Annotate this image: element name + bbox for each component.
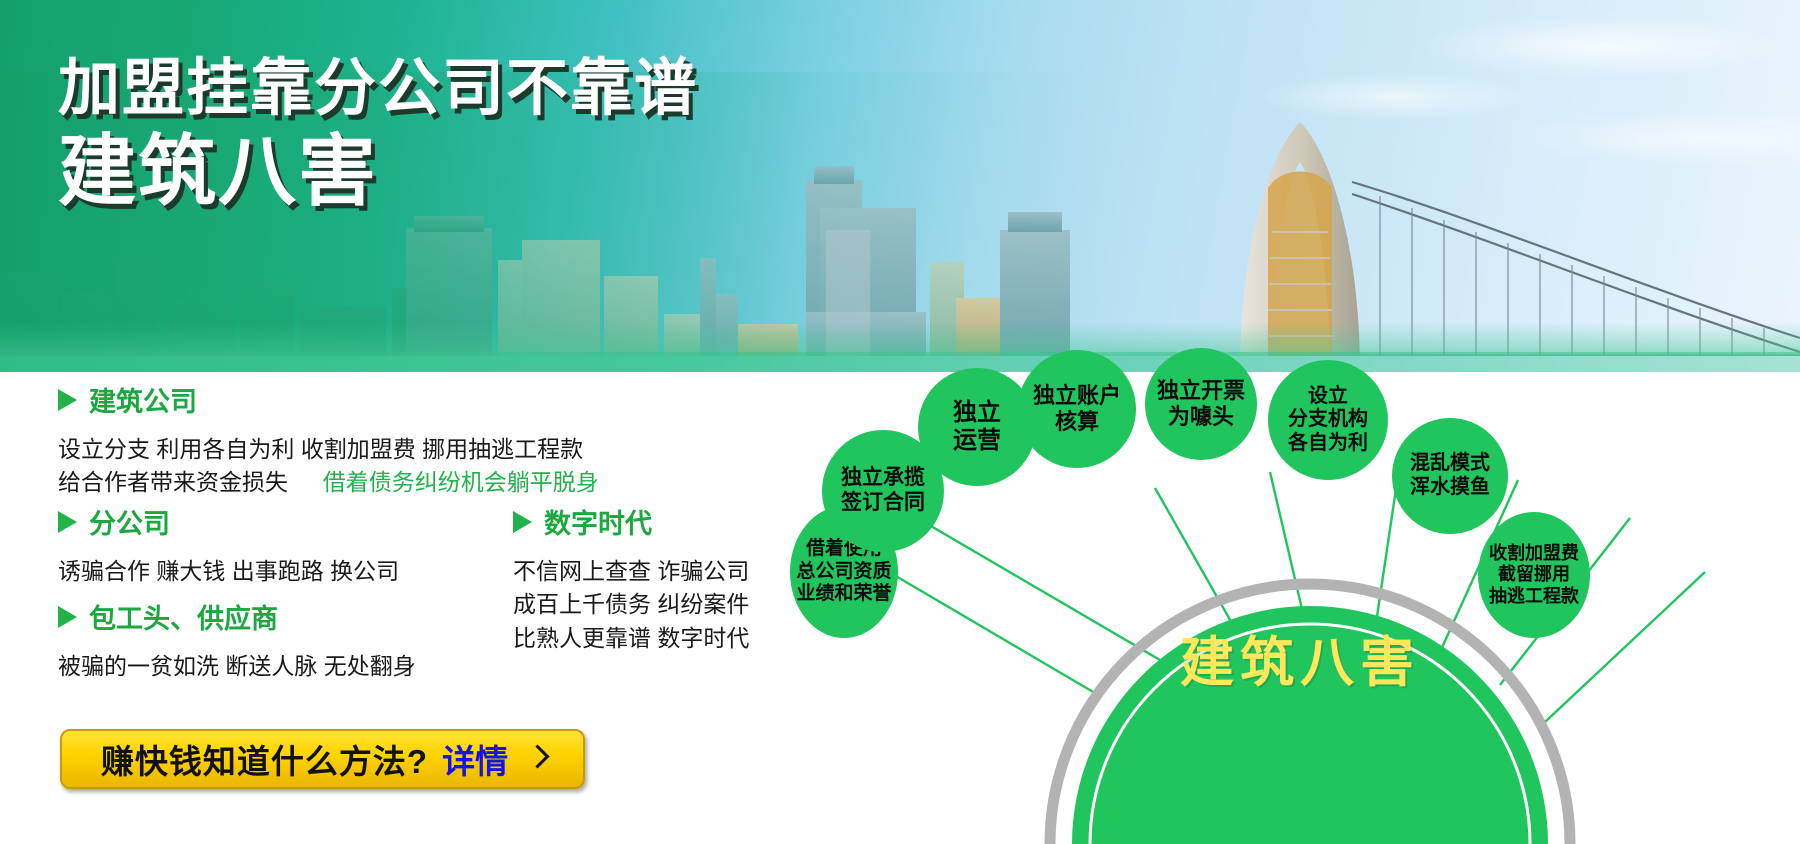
section-title: 数字时代 xyxy=(544,502,652,541)
section-body-line: 被骗的一贫如洗 断送人脉 无处翻身 xyxy=(58,650,416,683)
poster-root: 加盟挂靠分公司不靠谱 建筑八害 建筑公司 设立分支 利用各自为利 收割加盟费 挪… xyxy=(0,0,1800,844)
triangle-right-icon xyxy=(58,389,77,411)
section-title: 分公司 xyxy=(89,502,170,541)
triangle-right-icon xyxy=(58,606,77,628)
section-construction-company: 建筑公司 设立分支 利用各自为利 收割加盟费 挪用抽逃工程款 给合作者带来资金损… xyxy=(58,380,599,500)
section-body-line: 不信网上查查 诈骗公司 xyxy=(513,555,749,588)
hero-banner: 加盟挂靠分公司不靠谱 建筑八害 xyxy=(0,0,1800,372)
section-contractor-supplier: 包工头、供应商 被骗的一贫如洗 断送人脉 无处翻身 xyxy=(58,597,416,683)
section-heading: 建筑公司 xyxy=(58,380,599,419)
bubble-independent-account[interactable]: 独立账户 核算 xyxy=(1018,350,1136,468)
section-body: 诱骗合作 赚大钱 出事跑路 换公司 xyxy=(58,555,399,588)
section-heading: 数字时代 xyxy=(513,502,749,541)
cta-link-label[interactable]: 详情 xyxy=(442,735,508,783)
section-body-line: 成百上千债务 纠纷案件 xyxy=(513,588,749,621)
section-body-text: 给合作者带来资金损失 xyxy=(58,469,288,495)
headline-line-2: 建筑八害 xyxy=(58,131,698,213)
section-body-line: 诱骗合作 赚大钱 出事跑路 换公司 xyxy=(58,555,399,588)
section-body-line: 给合作者带来资金损失 借着债务纠纷机会躺平脱身 xyxy=(58,466,599,499)
section-body-line: 比熟人更靠谱 数字时代 xyxy=(513,622,749,655)
triangle-right-icon xyxy=(58,511,77,533)
bubble-independent-invoicing[interactable]: 独立开票 为噱头 xyxy=(1145,348,1257,460)
section-body: 被骗的一贫如洗 断送人脉 无处翻身 xyxy=(58,650,416,683)
section-body: 不信网上查查 诈骗公司 成百上千债务 纠纷案件 比熟人更靠谱 数字时代 xyxy=(513,555,749,655)
cta-label: 赚快钱知道什么方法? xyxy=(101,735,428,783)
section-body: 设立分支 利用各自为利 收割加盟费 挪用抽逃工程款 给合作者带来资金损失 借着债… xyxy=(58,433,599,500)
section-body-highlight: 借着债务纠纷机会躺平脱身 xyxy=(323,469,599,495)
left-content-column: 建筑公司 设立分支 利用各自为利 收割加盟费 挪用抽逃工程款 给合作者带来资金损… xyxy=(0,372,820,844)
bubble-set-up-branches[interactable]: 设立 分支机构 各自为利 xyxy=(1268,360,1388,480)
headline-line-1: 加盟挂靠分公司不靠谱 xyxy=(58,56,698,121)
details-cta-button[interactable]: 赚快钱知道什么方法? 详情 xyxy=(60,729,585,789)
eight-harms-diagram: 建筑八害 借着使用 总公司资质 业绩和荣誉 独立承揽 签订合同 独立 运营 独立… xyxy=(800,340,1800,844)
chevron-right-icon xyxy=(528,745,544,773)
triangle-right-icon xyxy=(513,511,532,533)
headline: 加盟挂靠分公司不靠谱 建筑八害 xyxy=(58,56,698,213)
section-title: 建筑公司 xyxy=(89,380,197,419)
section-body-line: 设立分支 利用各自为利 收割加盟费 挪用抽逃工程款 xyxy=(58,433,599,466)
section-heading: 分公司 xyxy=(58,502,399,541)
section-heading: 包工头、供应商 xyxy=(58,597,416,636)
section-digital-era: 数字时代 不信网上查查 诈骗公司 成百上千债务 纠纷案件 比熟人更靠谱 数字时代 xyxy=(513,502,749,655)
bubble-siphon-franchise-fees[interactable]: 收割加盟费 截留挪用 抽逃工程款 xyxy=(1478,512,1590,638)
bubble-independent-operation[interactable]: 独立 运营 xyxy=(918,368,1036,486)
section-title: 包工头、供应商 xyxy=(89,597,278,636)
bubble-chaotic-model[interactable]: 混乱模式 浑水摸鱼 xyxy=(1392,418,1508,534)
section-branch-company: 分公司 诱骗合作 赚大钱 出事跑路 换公司 xyxy=(58,502,399,588)
